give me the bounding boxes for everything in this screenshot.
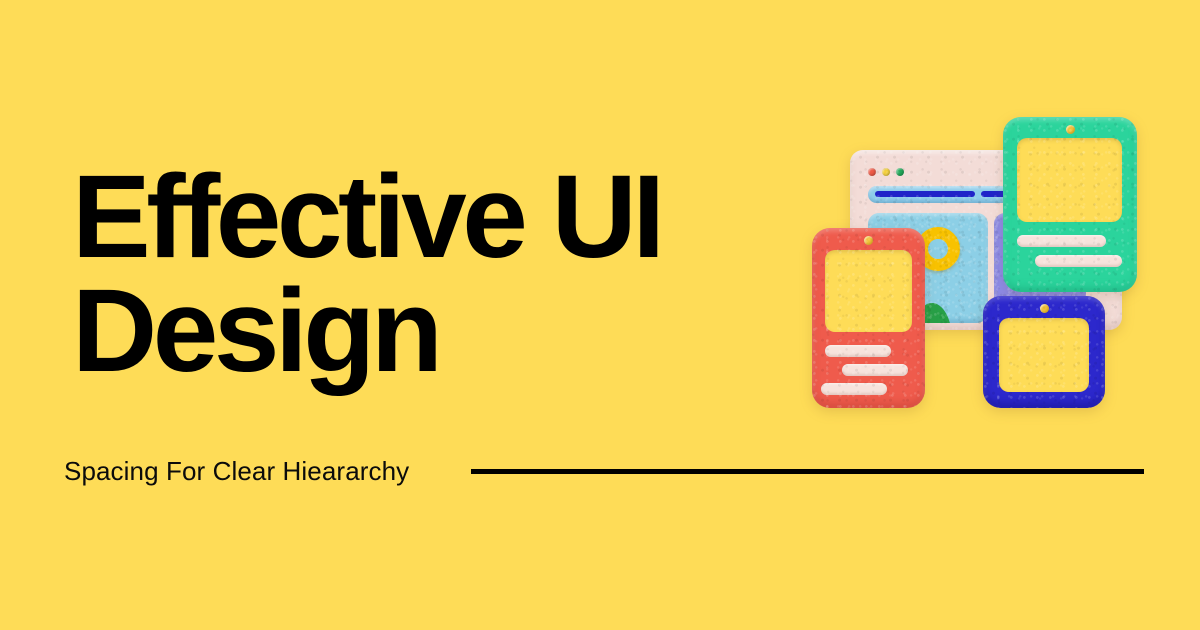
content-bar: [842, 364, 908, 376]
content-bar: [821, 383, 887, 395]
minimize-dot-icon: [882, 168, 890, 176]
red-device-card: [812, 228, 925, 408]
camera-dot-icon: [864, 236, 873, 245]
subtitle-row: Spacing For Clear Hieararchy: [64, 455, 1144, 487]
close-dot-icon: [868, 168, 876, 176]
card-screen: [1017, 138, 1122, 222]
green-device-card: [1003, 117, 1137, 292]
subtitle: Spacing For Clear Hieararchy: [64, 456, 409, 487]
ui-design-clay-illustration: [800, 95, 1160, 425]
content-bar: [1035, 255, 1122, 267]
text-block: Effective UI Design: [72, 160, 772, 389]
content-bar: [1017, 235, 1106, 247]
content-bar: [825, 345, 891, 357]
card-screen: [825, 250, 912, 332]
card-screen: [999, 318, 1089, 392]
camera-dot-icon: [1040, 304, 1049, 313]
divider-rule: [471, 469, 1144, 474]
page-title: Effective UI Design: [72, 160, 772, 389]
search-pill-left: [875, 191, 975, 197]
blue-device-card: [983, 296, 1105, 408]
maximize-dot-icon: [896, 168, 904, 176]
camera-dot-icon: [1066, 125, 1075, 134]
poster-canvas: Effective UI Design Spacing For Clear Hi…: [0, 0, 1200, 630]
